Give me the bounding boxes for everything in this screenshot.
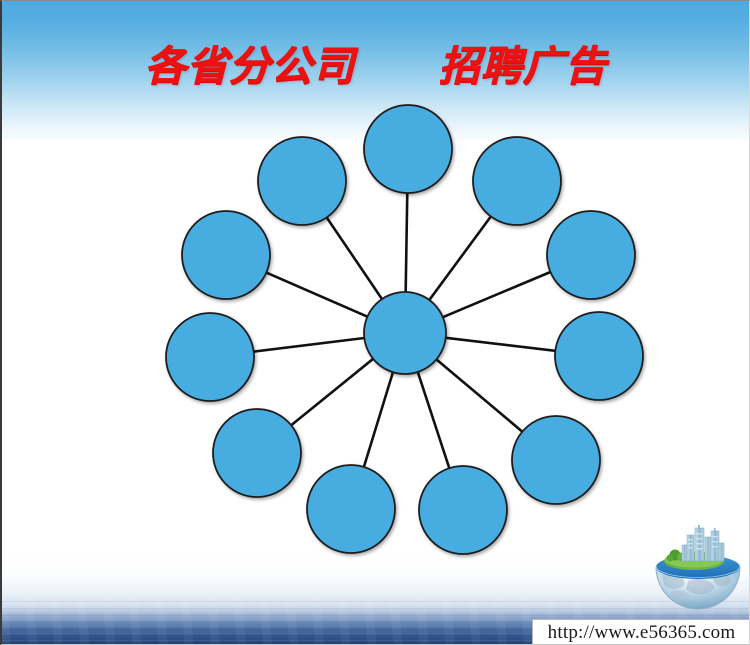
- diagram-node-1-shape: [364, 105, 452, 193]
- diagram-node-7-shape: [419, 466, 507, 554]
- diagram-node-10[interactable]: [547, 211, 635, 299]
- diagram-node-3-shape: [182, 211, 270, 299]
- spoke-line-6: [364, 371, 394, 468]
- spoke-line-5: [290, 358, 374, 426]
- watermark-box: http://www.e56365.com: [532, 619, 750, 645]
- diagram-center-node-shape: [364, 292, 446, 374]
- spoke-line-8: [436, 359, 523, 433]
- diagram-node-9-shape: [555, 312, 643, 400]
- spoke-line-4: [253, 338, 366, 352]
- diagram-node-11[interactable]: [473, 137, 561, 225]
- watermark-url: http://www.e56365.com: [548, 622, 736, 644]
- spoke-line-1: [406, 192, 408, 293]
- diagram-node-11-shape: [473, 137, 561, 225]
- diagram-node-5-shape: [213, 409, 301, 497]
- spoke-line-3: [265, 272, 368, 317]
- diagram-node-7[interactable]: [419, 466, 507, 554]
- diagram-svg: [2, 1, 750, 645]
- diagram-node-1[interactable]: [364, 105, 452, 193]
- diagram-node-9[interactable]: [555, 312, 643, 400]
- diagram-node-10-shape: [547, 211, 635, 299]
- globe-logo-svg: [650, 523, 746, 611]
- diagram-node-2-shape: [258, 137, 346, 225]
- spoke-line-2: [326, 217, 382, 300]
- diagram-center-node[interactable]: [364, 292, 446, 374]
- diagram-node-2[interactable]: [258, 137, 346, 225]
- diagram-node-5[interactable]: [213, 409, 301, 497]
- spoke-line-7: [417, 371, 449, 469]
- diagram-node-8[interactable]: [512, 416, 600, 504]
- spoke-line-11: [429, 216, 492, 301]
- diagram-node-6-shape: [307, 465, 395, 553]
- diagram-node-8-shape: [512, 416, 600, 504]
- node-circles-group: [166, 105, 643, 554]
- spoke-line-10: [442, 272, 551, 318]
- diagram-node-3[interactable]: [182, 211, 270, 299]
- globe-city-buildings: [682, 525, 724, 561]
- slide-canvas: 各省分公司 招聘广告: [0, 0, 750, 645]
- hub-and-spoke-diagram: [2, 1, 750, 645]
- diagram-node-4-shape: [166, 313, 254, 401]
- earth-city-globe-logo: [650, 523, 746, 611]
- diagram-node-6[interactable]: [307, 465, 395, 553]
- diagram-node-4[interactable]: [166, 313, 254, 401]
- spoke-line-9: [445, 338, 557, 351]
